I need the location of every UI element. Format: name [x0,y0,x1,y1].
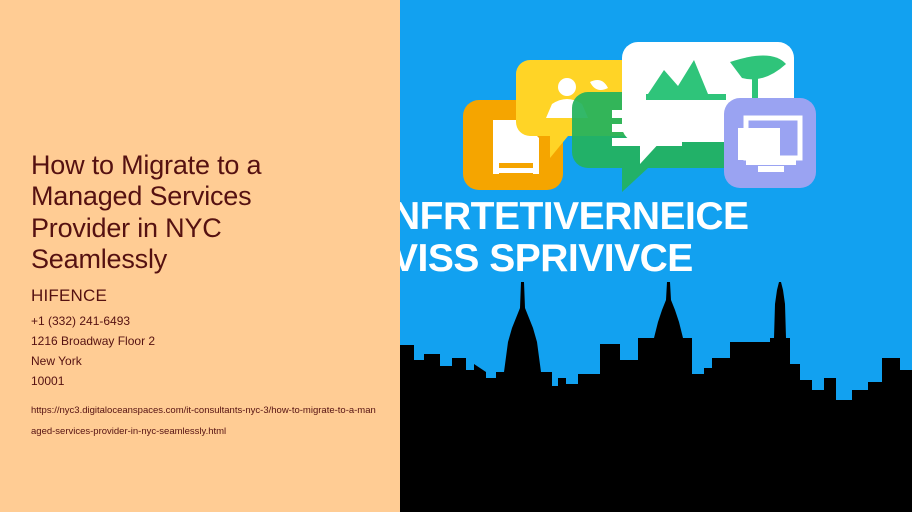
left-info-panel: How to Migrate to a Managed Services Pro… [0,0,400,512]
page-title: How to Migrate to a Managed Services Pro… [31,150,321,275]
city-skyline-silhouette [400,282,912,512]
contact-city: New York [31,351,376,371]
poster-headline: NFRTETIVERNEICE VISS SPRIVIVCE [400,196,912,280]
promo-card: How to Migrate to a Managed Services Pro… [0,0,912,512]
poster-headline-line-2: VISS SPRIVIVCE [400,238,912,280]
contact-street: 1216 Broadway Floor 2 [31,331,376,351]
services-illustration [400,0,912,200]
left-content-block: How to Migrate to a Managed Services Pro… [31,150,376,443]
contact-phone: +1 (332) 241-6493 [31,311,376,331]
right-image-panel: NFRTETIVERNEICE VISS SPRIVIVCE [400,0,912,512]
contact-zip: 10001 [31,371,376,391]
monitor-card-icon [724,98,816,188]
article-url[interactable]: https://nyc3.digitaloceanspaces.com/it-c… [31,401,376,443]
poster-headline-line-1: NFRTETIVERNEICE [400,196,912,238]
brand-name: HIFENCE [31,285,376,306]
